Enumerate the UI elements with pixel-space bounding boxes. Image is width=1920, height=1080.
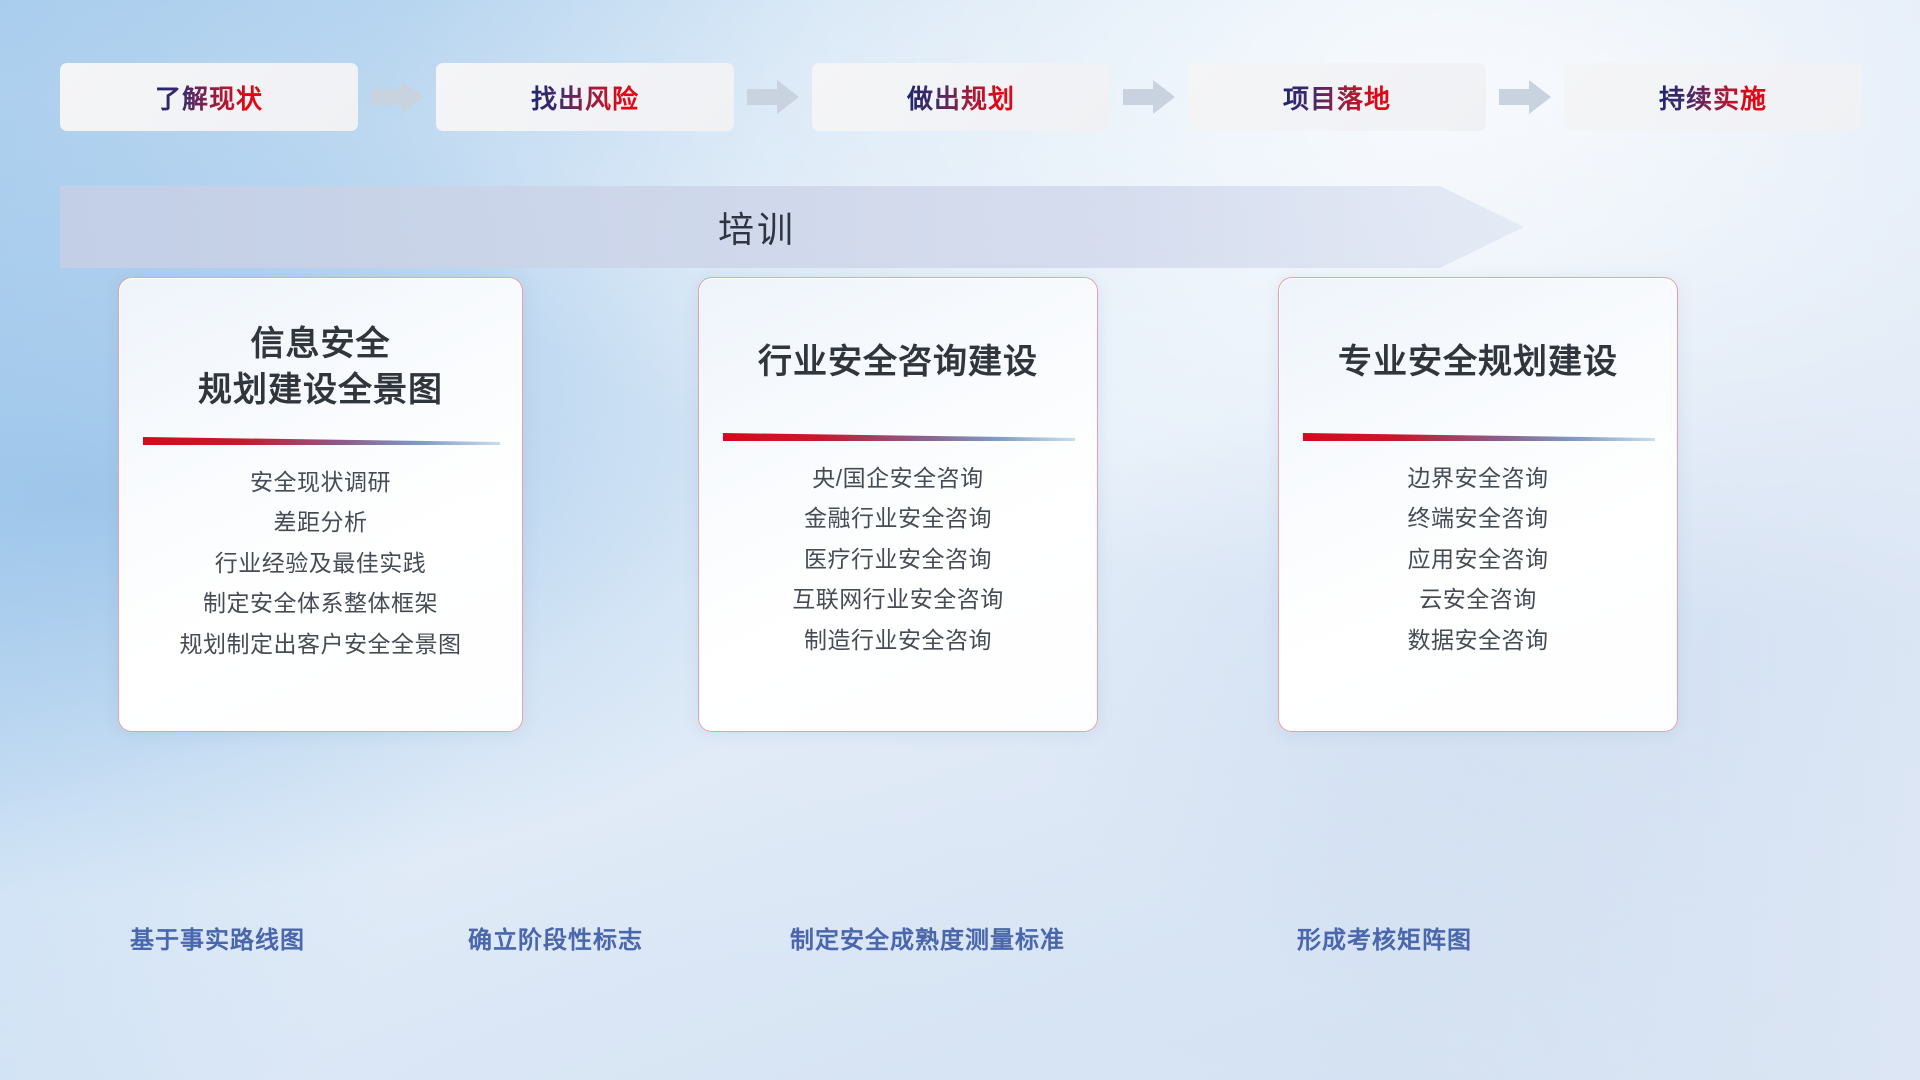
step-label-4: 持续实施 xyxy=(1659,79,1767,116)
step-label-3: 项目落地 xyxy=(1283,79,1391,116)
step-arrow-icon-1 xyxy=(734,80,812,114)
card-industry-security-consulting[interactable]: 行业安全咨询建设 央/国企安全咨询 金融行业安全咨询 医疗行业安全咨询 互联网行… xyxy=(698,277,1098,732)
list-item: 金融行业安全咨询 xyxy=(804,504,992,533)
step-label-0: 了解现状 xyxy=(155,79,263,116)
card-divider-2 xyxy=(1301,429,1655,443)
step-label-2: 做出规划 xyxy=(907,79,1015,116)
list-item: 行业经验及最佳实践 xyxy=(215,549,427,578)
list-item: 安全现状调研 xyxy=(250,468,391,497)
card-title-0: 信息安全 规划建设全景图 xyxy=(119,322,522,413)
list-item: 差距分析 xyxy=(274,508,368,537)
card-list-0: 安全现状调研 差距分析 行业经验及最佳实践 制定安全体系整体框架 规划制定出客户… xyxy=(119,468,522,659)
step-box-1[interactable]: 找出风险 xyxy=(436,63,734,131)
process-step-flow: 了解现状 找出风险 做出规划 项目落地 持续实施 xyxy=(60,62,1860,132)
step-arrow-icon-2 xyxy=(1110,80,1188,114)
list-item: 央/国企安全咨询 xyxy=(812,464,983,493)
card-list-2: 边界安全咨询 终端安全咨询 应用安全咨询 云安全咨询 数据安全咨询 xyxy=(1279,464,1677,655)
list-item: 云安全咨询 xyxy=(1419,585,1537,614)
list-item: 制造行业安全咨询 xyxy=(804,626,992,655)
footnote-3: 形成考核矩阵图 xyxy=(1297,920,1472,955)
list-item: 边界安全咨询 xyxy=(1408,464,1549,493)
step-box-2[interactable]: 做出规划 xyxy=(812,63,1110,131)
card-professional-security-planning[interactable]: 专业安全规划建设 边界安全咨询 终端安全咨询 应用安全咨询 云安全咨询 数据安全… xyxy=(1278,277,1678,732)
card-title-2: 专业安全规划建设 xyxy=(1279,340,1677,386)
step-arrow-icon-0 xyxy=(358,80,436,114)
list-item: 终端安全咨询 xyxy=(1408,504,1549,533)
list-item: 应用安全咨询 xyxy=(1408,545,1549,574)
card-information-security-blueprint[interactable]: 信息安全 规划建设全景图 安全现状调研 差距分析 行业经验及最佳实践 制定安全体… xyxy=(118,277,523,732)
training-banner: 培训 xyxy=(60,186,1524,268)
footnote-2: 制定安全成熟度测量标准 xyxy=(790,920,1065,955)
card-list-1: 央/国企安全咨询 金融行业安全咨询 医疗行业安全咨询 互联网行业安全咨询 制造行… xyxy=(699,464,1097,655)
list-item: 规划制定出客户安全全景图 xyxy=(180,630,462,659)
list-item: 医疗行业安全咨询 xyxy=(804,545,992,574)
banner-title: 培训 xyxy=(60,186,1524,268)
step-arrow-icon-3 xyxy=(1486,80,1564,114)
card-divider-0 xyxy=(141,433,500,447)
card-group: 信息安全 规划建设全景图 安全现状调研 差距分析 行业经验及最佳实践 制定安全体… xyxy=(0,277,1920,737)
step-box-0[interactable]: 了解现状 xyxy=(60,63,358,131)
footnote-row: 基于事实路线图 确立阶段性标志 制定安全成熟度测量标准 形成考核矩阵图 xyxy=(0,920,1920,960)
footnote-1: 确立阶段性标志 xyxy=(468,920,643,955)
list-item: 制定安全体系整体框架 xyxy=(203,589,438,618)
step-box-4[interactable]: 持续实施 xyxy=(1564,63,1862,131)
step-label-1: 找出风险 xyxy=(531,79,639,116)
list-item: 数据安全咨询 xyxy=(1408,626,1549,655)
footnote-0: 基于事实路线图 xyxy=(130,920,305,955)
card-divider-1 xyxy=(721,429,1075,443)
list-item: 互联网行业安全咨询 xyxy=(792,585,1004,614)
step-box-3[interactable]: 项目落地 xyxy=(1188,63,1486,131)
card-title-1: 行业安全咨询建设 xyxy=(699,340,1097,386)
